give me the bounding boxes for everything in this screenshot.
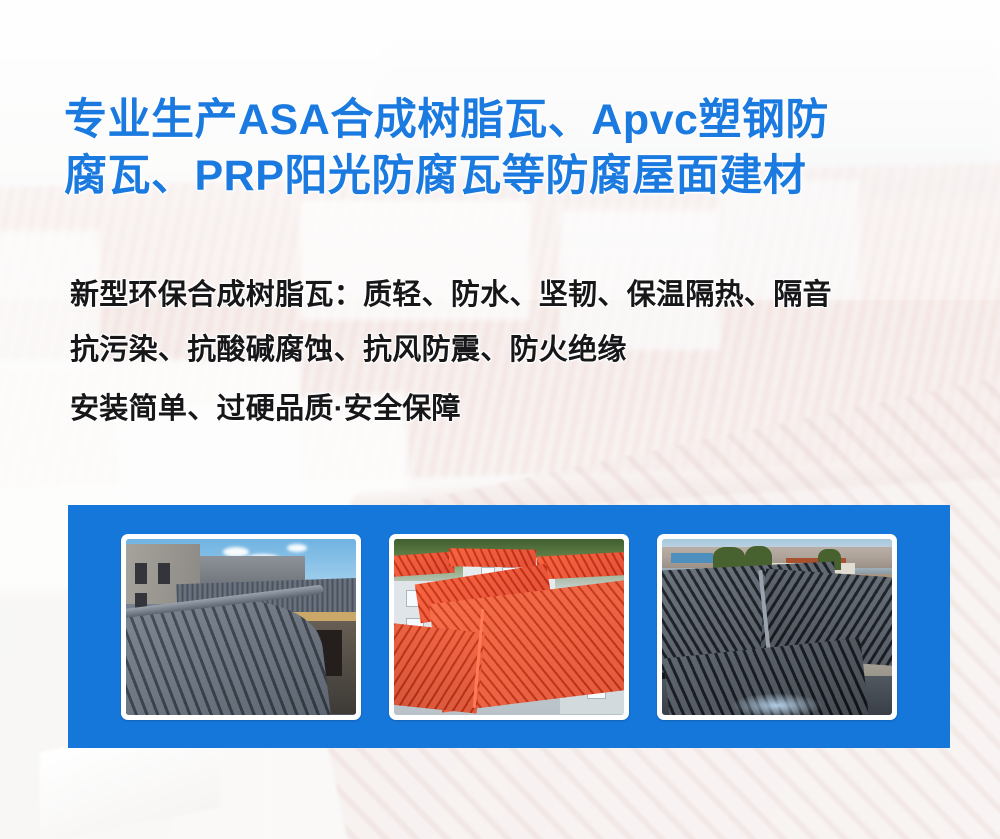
headline-line-1: 专业生产ASA合成树脂瓦、Apvc塑钢防	[64, 92, 944, 148]
gallery-photo-2[interactable]	[389, 534, 629, 720]
product-gallery-panel	[68, 505, 950, 748]
photo3-blue-shed	[671, 553, 712, 564]
photo1-window	[158, 563, 170, 584]
gray-barrel-tile-roof-photo	[126, 539, 356, 715]
gallery-photo-3[interactable]	[657, 534, 897, 720]
feature-list: 新型环保合成树脂瓦：质轻、防水、坚韧、保温隔热、隔音 抗污染、抗酸碱腐蚀、抗风防…	[70, 268, 970, 440]
photo2-red-roof-section	[536, 552, 624, 580]
page-title: 专业生产ASA合成树脂瓦、Apvc塑钢防 腐瓦、PRP阳光防腐瓦等防腐屋面建材	[64, 92, 944, 204]
feature-line-1: 新型环保合成树脂瓦：质轻、防水、坚韧、保温隔热、隔音	[70, 268, 970, 323]
feature-line-3: 安装简单、过硬品质·安全保障	[70, 378, 970, 440]
photo2-red-roof-section	[449, 548, 537, 567]
photo1-cloud	[287, 544, 307, 552]
dark-gray-resin-roof-photo	[662, 539, 892, 715]
headline-line-2: 腐瓦、PRP阳光防腐瓦等防腐屋面建材	[64, 148, 944, 204]
photo3-sun-glare	[731, 693, 823, 714]
gallery-photo-1[interactable]	[121, 534, 361, 720]
photo1-window	[135, 563, 147, 584]
feature-line-2: 抗污染、抗酸碱腐蚀、抗风防震、防火绝缘	[70, 323, 970, 378]
photo2-left-red-roof	[394, 621, 485, 713]
red-synthetic-resin-roof-photo	[394, 539, 624, 715]
photo2-red-roof-section	[394, 552, 454, 578]
